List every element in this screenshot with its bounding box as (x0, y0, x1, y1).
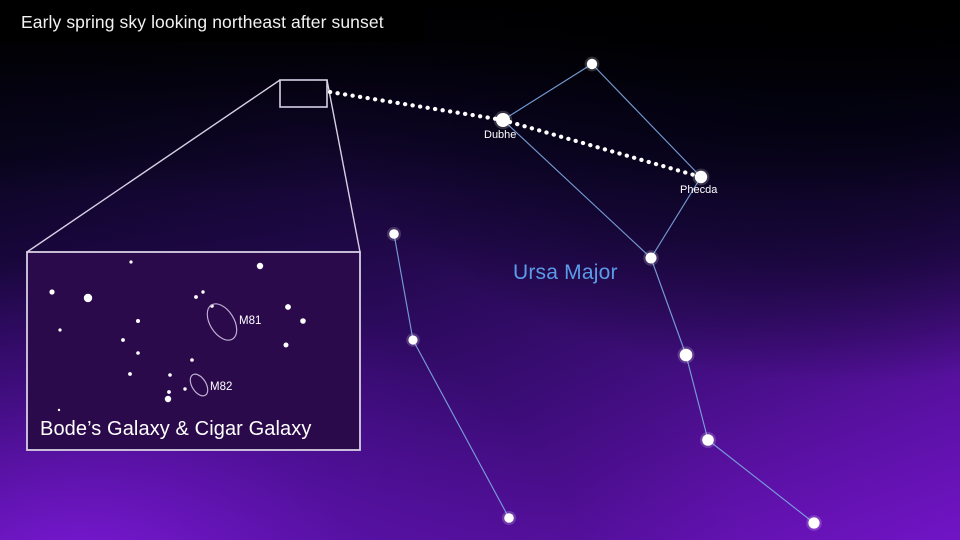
inset-panel[interactable] (27, 252, 360, 450)
constellation-line (394, 234, 413, 340)
inset-star (183, 387, 186, 390)
constellation-line (686, 355, 708, 440)
star-alkaid[interactable] (702, 434, 714, 446)
magnifier-cone (27, 80, 360, 252)
constellation-line (651, 177, 701, 258)
magnifier-source-rect[interactable] (280, 80, 327, 107)
star-dubhe[interactable] (496, 113, 510, 127)
constellation-line (651, 258, 686, 355)
inset-star (167, 390, 171, 394)
sky-chart-canvas: Early spring sky looking northeast after… (0, 0, 960, 540)
inset-star (190, 358, 194, 362)
inset-star (201, 290, 204, 293)
constellation-line (708, 440, 814, 523)
constellation-line (592, 64, 701, 177)
chart-vector-overlay (0, 0, 960, 540)
inset-star (58, 409, 60, 411)
inset-star (257, 263, 263, 269)
inset-star (58, 328, 61, 331)
inset-star (84, 294, 92, 302)
inset-star (165, 396, 171, 402)
inset-star (128, 372, 132, 376)
star-branch1[interactable] (389, 229, 399, 239)
star-branch2[interactable] (408, 335, 417, 344)
inset-star (284, 343, 289, 348)
star-end[interactable] (808, 517, 819, 528)
inset-star (168, 373, 172, 377)
constellation-stars (387, 57, 822, 531)
inset-star (136, 351, 140, 355)
inset-star (300, 318, 306, 324)
inset-frame (27, 252, 360, 450)
star-megrez[interactable] (587, 59, 597, 69)
pointer-dotted-line (330, 92, 701, 177)
magnifier-cone-left (27, 80, 280, 252)
pointer-dotted-polyline (330, 92, 701, 177)
constellation-lines (394, 64, 814, 523)
inset-star (136, 319, 140, 323)
star-mizar[interactable] (680, 349, 693, 362)
constellation-line (413, 340, 509, 518)
magnifier-source-box (280, 80, 327, 107)
inset-star (129, 260, 132, 263)
magnifier-cone-right (327, 80, 360, 252)
star-alioth[interactable] (646, 253, 657, 264)
inset-star (121, 338, 125, 342)
star-branch3[interactable] (504, 513, 514, 523)
constellation-line (503, 64, 592, 120)
inset-star (285, 304, 291, 310)
inset-star (194, 295, 198, 299)
inset-star (49, 289, 54, 294)
star-phecda[interactable] (695, 171, 707, 183)
